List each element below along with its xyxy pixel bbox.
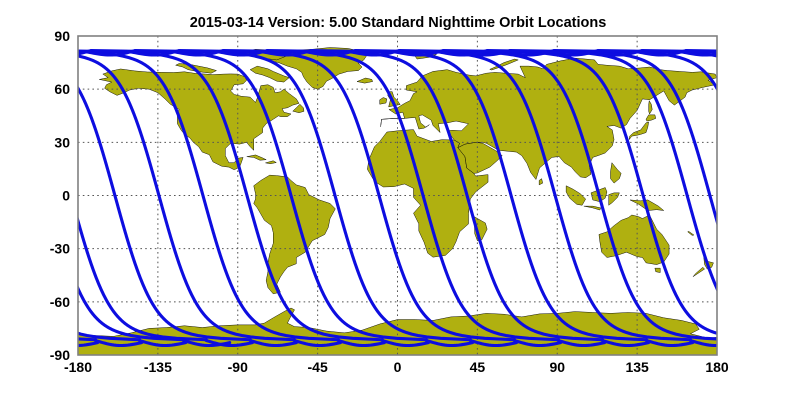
y-tick-label: 60 bbox=[54, 81, 70, 97]
x-tick-label: 180 bbox=[705, 359, 729, 375]
orbit-map-figure: 2015-03-14 Version: 5.00 Standard Nightt… bbox=[0, 0, 800, 400]
x-tick-label: -135 bbox=[144, 359, 172, 375]
x-tick-label: 135 bbox=[625, 359, 649, 375]
x-tick-label: 45 bbox=[470, 359, 486, 375]
y-tick-label: 0 bbox=[62, 188, 70, 204]
y-tick-label: 90 bbox=[54, 28, 70, 44]
x-tick-label: -180 bbox=[64, 359, 92, 375]
y-tick-label: -60 bbox=[50, 294, 70, 310]
y-tick-label: 30 bbox=[54, 134, 70, 150]
x-tick-label: 90 bbox=[549, 359, 565, 375]
page-title: 2015-03-14 Version: 5.00 Standard Nightt… bbox=[190, 15, 607, 31]
x-tick-label: -45 bbox=[308, 359, 328, 375]
x-tick-label: 0 bbox=[394, 359, 402, 375]
x-tick-label: -90 bbox=[228, 359, 248, 375]
x-axis-ticks: -180-135-90-4504590135180 bbox=[64, 359, 729, 375]
y-tick-label: -30 bbox=[50, 241, 70, 257]
